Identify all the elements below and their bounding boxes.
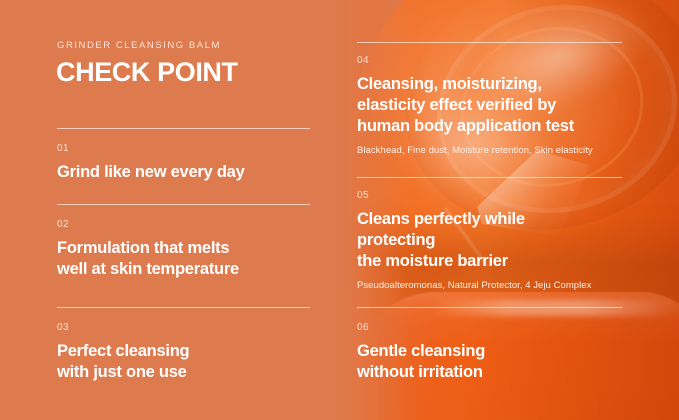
checkpoint-heading: Formulation that melts well at skin temp… (57, 238, 319, 280)
divider-left-2 (57, 204, 310, 205)
checkpoint-number: 05 (357, 190, 629, 201)
divider-left-1 (57, 128, 310, 129)
checkpoint-item-05: 05 Cleans perfectly while protecting the… (357, 190, 629, 291)
checkpoint-number: 04 (357, 55, 629, 66)
checkpoint-heading: Gentle cleansing without irritation (357, 341, 629, 383)
divider-right-1 (357, 42, 622, 43)
checkpoint-heading: Cleans perfectly while protecting the mo… (357, 209, 629, 271)
brand-eyebrow: GRINDER CLEANSING BALM (57, 40, 221, 51)
checkpoint-item-03: 03 Perfect cleansing with just one use (57, 322, 319, 383)
checkpoint-item-01: 01 Grind like new every day (57, 143, 319, 183)
divider-right-3 (357, 307, 622, 308)
checkpoint-number: 02 (57, 219, 319, 230)
checkpoint-number: 06 (357, 322, 629, 333)
checkpoint-item-02: 02 Formulation that melts well at skin t… (57, 219, 319, 280)
checkpoint-subtext: Blackhead, Fine dust, Moisture retention… (357, 145, 629, 156)
checkpoint-item-04: 04 Cleansing, moisturizing, elasticity e… (357, 55, 629, 156)
checkpoint-heading: Grind like new every day (57, 162, 319, 183)
checkpoint-subtext: Pseudoalteromonas, Natural Protector, 4 … (357, 280, 629, 291)
checkpoint-heading: Cleansing, moisturizing, elasticity effe… (357, 74, 629, 136)
content-layer: GRINDER CLEANSING BALM CHECK POINT 01 Gr… (0, 0, 679, 420)
checkpoint-heading: Perfect cleansing with just one use (57, 341, 319, 383)
divider-right-2 (357, 177, 622, 178)
checkpoint-number: 01 (57, 143, 319, 154)
divider-left-3 (57, 307, 310, 308)
checkpoint-item-06: 06 Gentle cleansing without irritation (357, 322, 629, 383)
checkpoint-number: 03 (57, 322, 319, 333)
product-infographic-banner: GRINDER CLEANSING BALM CHECK POINT 01 Gr… (0, 0, 679, 420)
page-title: CHECK POINT (56, 57, 238, 88)
